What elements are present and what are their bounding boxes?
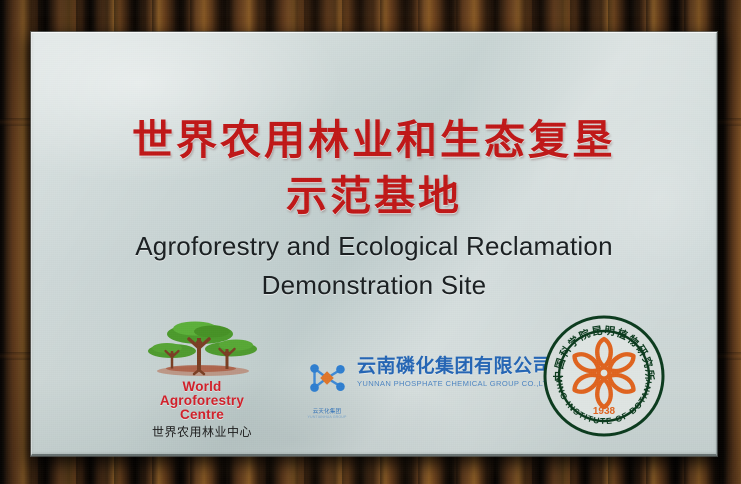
molecule-node-diamond-icon bbox=[303, 352, 351, 404]
waf-name-en-line2: Agroforestry bbox=[137, 394, 267, 408]
ypc-name-en: YUNNAN PHOSPHATE CHEMICAL GROUP CO.,LTD bbox=[357, 379, 554, 389]
sign-title-chinese-line1: 世界农用林业和生态复垦 bbox=[31, 118, 717, 162]
sign-logo-row: World Agroforestry Centre 世界农用林业中心 bbox=[31, 310, 717, 456]
ypc-sub-en: YUNTIANHUA GROUP bbox=[303, 415, 351, 419]
ypc-mark-block: 云天化集团 YUNTIANHUA GROUP bbox=[303, 352, 351, 419]
three-acacia-trees-icon bbox=[147, 315, 257, 377]
logo-yunnan-phosphate-chemical-group: 云天化集团 YUNTIANHUA GROUP 云南磷化集团有限公司 YUNNAN… bbox=[303, 352, 554, 419]
sign-title-chinese-line2: 示范基地 bbox=[31, 174, 717, 218]
waf-name-cn: 世界农用林业中心 bbox=[137, 425, 267, 439]
circular-seal-flower-icon: 中国科学院昆明植物研究所 KUNMING INSTITUTE OF BOTANY… bbox=[540, 310, 668, 442]
ypc-name-cn: 云南磷化集团有限公司 bbox=[357, 356, 554, 377]
sign-title-english-line2: Demonstration Site bbox=[31, 270, 717, 300]
sign-title-english-line1: Agroforestry and Ecological Reclamation bbox=[31, 231, 717, 261]
waf-name-en: World Agroforestry Centre bbox=[137, 380, 267, 422]
photo-scene: 世界农用林业和生态复垦 示范基地 Agroforestry and Ecolog… bbox=[0, 0, 741, 484]
waf-name-en-line1: World bbox=[137, 380, 267, 394]
ypc-text-block: 云南磷化集团有限公司 YUNNAN PHOSPHATE CHEMICAL GRO… bbox=[357, 352, 554, 389]
kib-year: 1938 bbox=[593, 406, 616, 417]
ypc-sub-cn: 云天化集团 bbox=[303, 407, 351, 415]
logo-world-agroforestry-centre: World Agroforestry Centre 世界农用林业中心 bbox=[137, 315, 267, 439]
information-sign-plate: 世界农用林业和生态复垦 示范基地 Agroforestry and Ecolog… bbox=[31, 32, 717, 456]
logo-kunming-institute-of-botany: 中国科学院昆明植物研究所 KUNMING INSTITUTE OF BOTANY… bbox=[540, 310, 668, 442]
waf-name-en-line3: Centre bbox=[137, 408, 267, 422]
